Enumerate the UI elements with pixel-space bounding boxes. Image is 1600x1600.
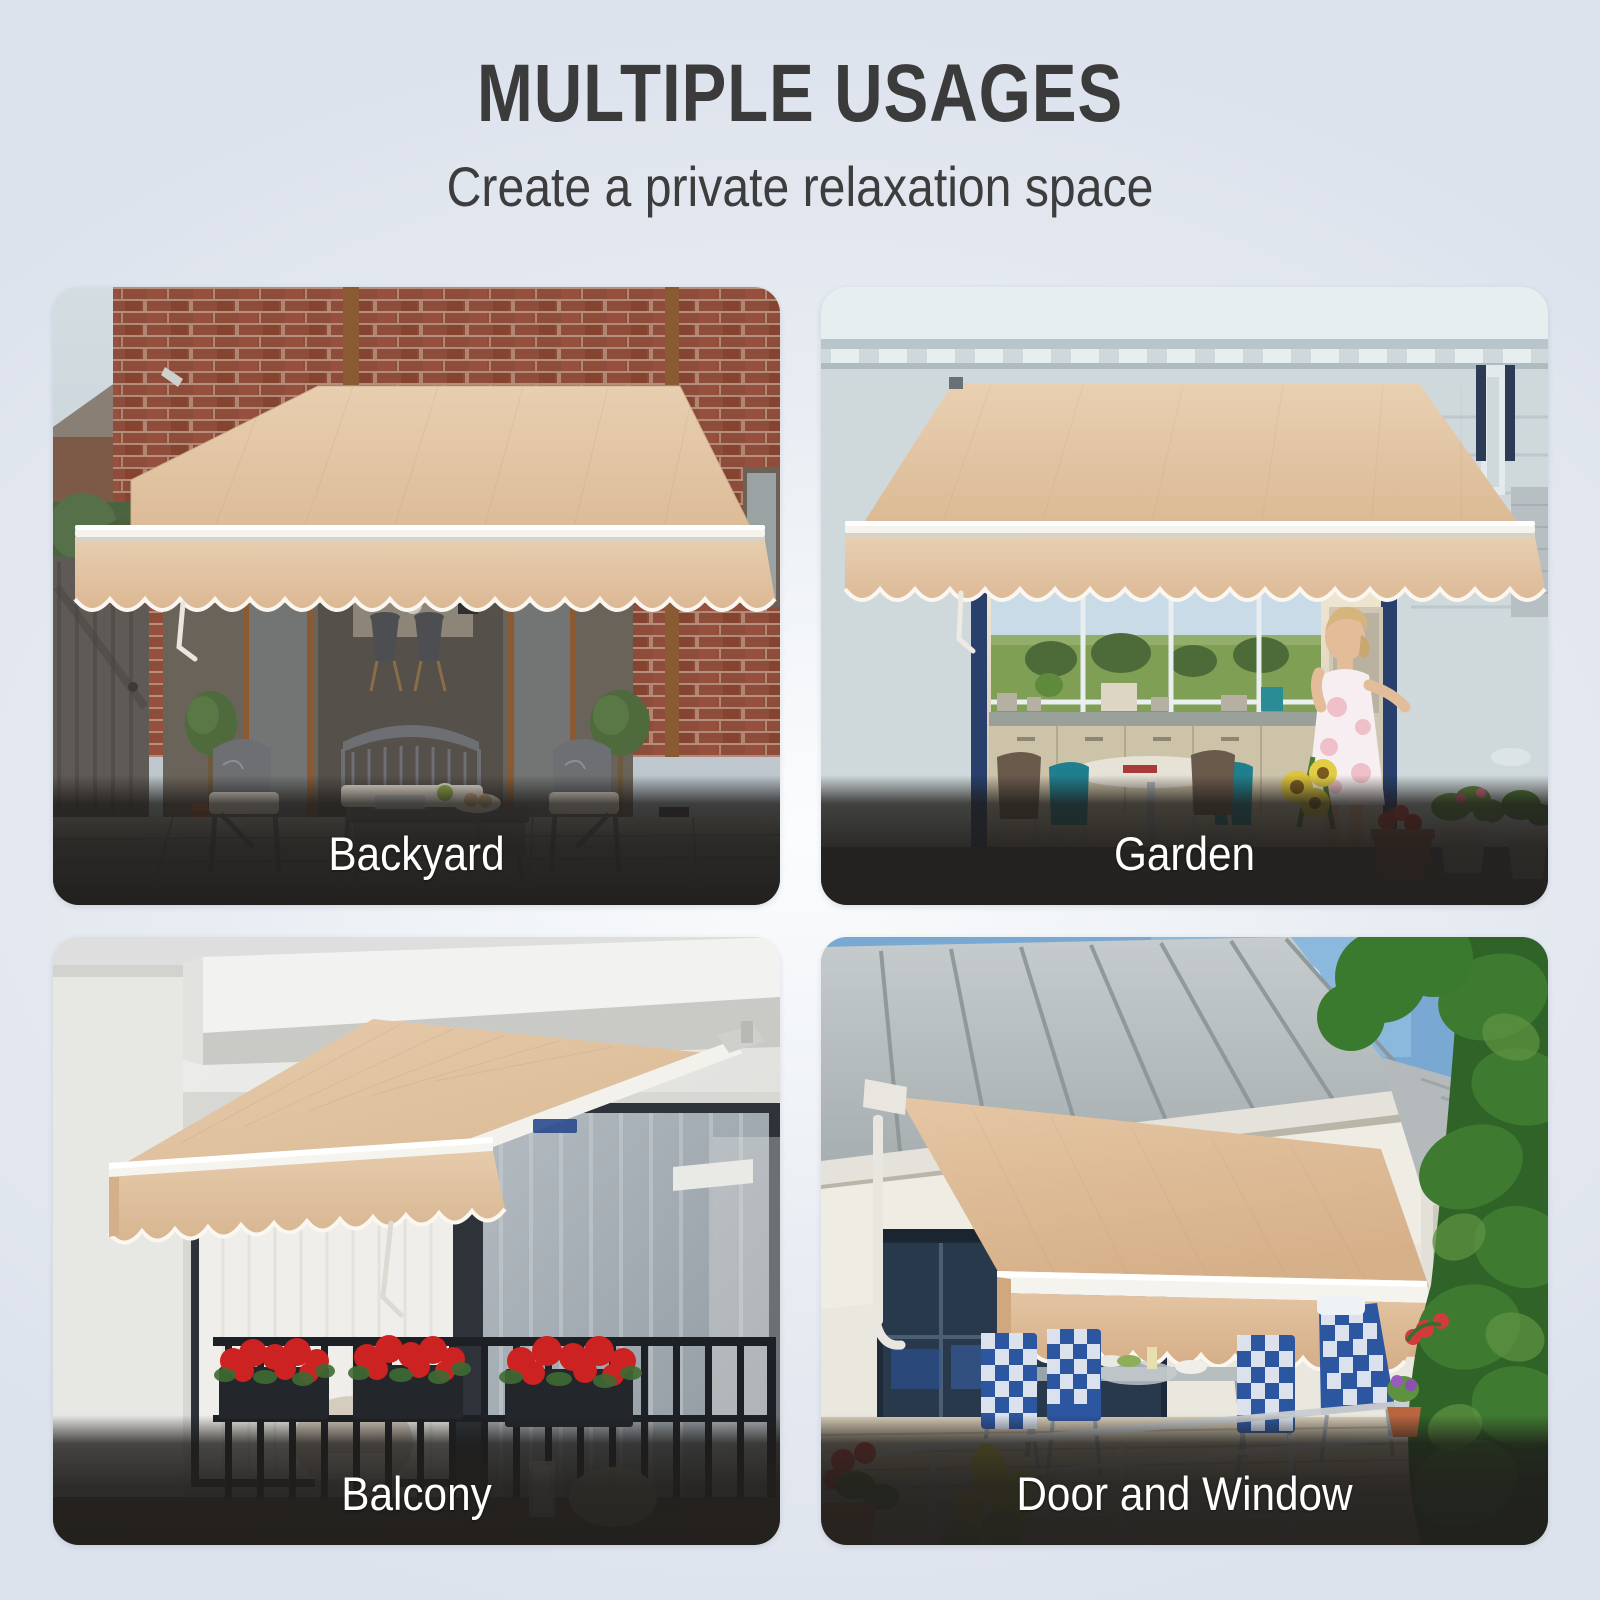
backyard-photo	[53, 287, 780, 905]
card-caption-garden: Garden	[857, 829, 1511, 879]
card-caption-backyard: Backyard	[89, 829, 743, 879]
door-window-photo	[821, 937, 1548, 1545]
usage-card-grid: Backyard	[53, 287, 1548, 1545]
usage-card-backyard[interactable]: Backyard	[53, 287, 780, 905]
garden-photo	[821, 287, 1548, 905]
usage-card-door-window[interactable]: Door and Window	[821, 937, 1548, 1545]
header: MULTIPLE USAGES Create a private relaxat…	[0, 52, 1600, 216]
usage-card-garden[interactable]: Garden	[821, 287, 1548, 905]
card-caption-door-window: Door and Window	[857, 1469, 1511, 1519]
balcony-photo	[53, 937, 780, 1545]
page-title: MULTIPLE USAGES	[144, 52, 1456, 136]
usage-card-balcony[interactable]: Balcony	[53, 937, 780, 1545]
card-caption-balcony: Balcony	[89, 1469, 743, 1519]
promo-page: MULTIPLE USAGES Create a private relaxat…	[0, 0, 1600, 1600]
page-subtitle: Create a private relaxation space	[112, 158, 1488, 216]
